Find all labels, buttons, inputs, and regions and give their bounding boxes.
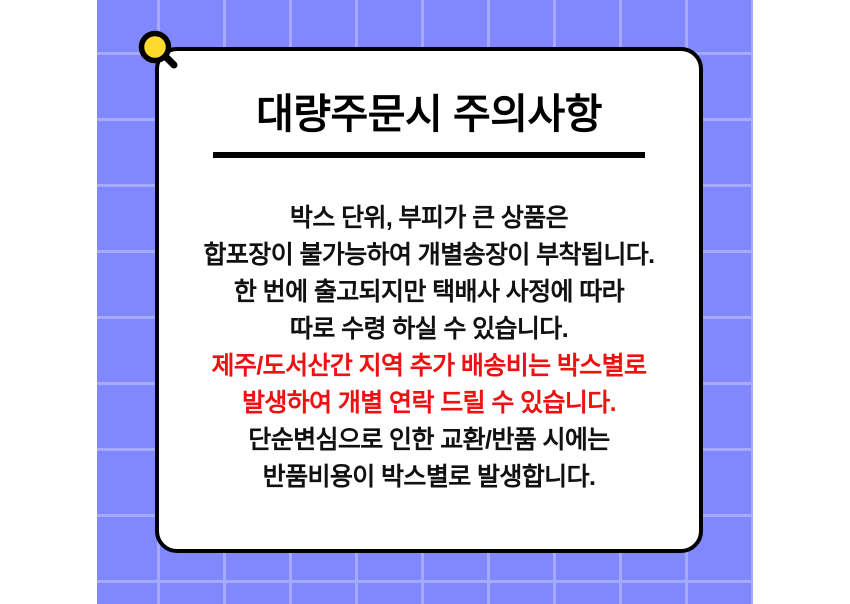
notice-line-highlighted: 발생하여 개별 연락 드릴 수 있습니다. (155, 385, 703, 422)
notice-line: 한 번에 출고되지만 택배사 사정에 따라 (155, 274, 703, 311)
notice-line: 단순변심으로 인한 교환/반품 시에는 (155, 422, 703, 459)
title-block: 대량주문시 주의사항 (155, 88, 703, 158)
magnifying-glass-icon (131, 23, 187, 79)
notice-body: 박스 단위, 부피가 큰 상품은 합포장이 불가능하여 개별송장이 부착됩니다.… (155, 200, 703, 496)
notice-line: 따로 수령 하실 수 있습니다. (155, 311, 703, 348)
notice-graphic: 대량주문시 주의사항 박스 단위, 부피가 큰 상품은 합포장이 불가능하여 개… (0, 0, 850, 604)
title-divider (213, 152, 645, 158)
notice-line-highlighted: 제주/도서산간 지역 추가 배송비는 박스별로 (155, 348, 703, 385)
notice-line: 반품비용이 박스별로 발생합니다. (155, 459, 703, 496)
notice-line: 박스 단위, 부피가 큰 상품은 (155, 200, 703, 237)
page-title: 대량주문시 주의사항 (155, 88, 703, 140)
notice-line: 합포장이 불가능하여 개별송장이 부착됩니다. (155, 237, 703, 274)
